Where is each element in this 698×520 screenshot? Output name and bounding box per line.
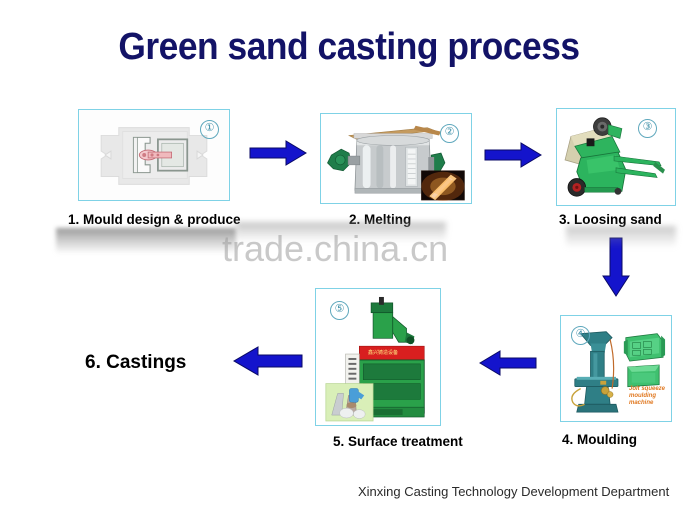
step-1-panel[interactable]: ① [78, 109, 230, 201]
watermark-smudge-left [56, 228, 236, 254]
footer-company-name: Xinxing Casting Technology Development D… [358, 484, 669, 499]
step-3-panel[interactable]: ③ [556, 108, 676, 206]
step-4-panel[interactable]: Jolt squeeze moulding machine ④ [560, 315, 672, 422]
step-4-number: ④ [571, 326, 590, 345]
arrow-step1-to-step2 [248, 138, 308, 168]
step-3-number: ③ [638, 119, 657, 138]
watermark-smudge-right [566, 226, 676, 248]
diagram-canvas: Green sand casting process ① 1. Mo [0, 0, 698, 520]
step-1-caption: 1. Mould design & produce [68, 212, 241, 227]
step-5-number: ⑤ [330, 301, 349, 320]
step-3-caption: 3. Loosing sand [559, 212, 662, 227]
page-title: Green sand casting process [24, 26, 673, 69]
step-5-banner-text: 鑫兴铸造设备 [368, 349, 398, 356]
step-2-number: ② [440, 124, 459, 143]
watermark-smudge-center [236, 222, 446, 242]
step-1-number: ① [200, 120, 219, 139]
step-2-panel[interactable]: ② [320, 113, 472, 204]
step-6-caption: 6. Castings [85, 352, 186, 374]
step-5-caption: 5. Surface treatment [333, 434, 463, 449]
step-4-inline-label: Jolt squeeze moulding machine [629, 386, 671, 407]
step-4-caption: 4. Moulding [562, 432, 637, 447]
arrow-step4-to-step5 [478, 348, 538, 378]
arrow-step2-to-step3 [483, 140, 543, 170]
step-5-panel[interactable]: 鑫兴铸造设备 ⑤ [315, 288, 441, 426]
arrow-step5-to-step6 [232, 345, 304, 377]
sand-loosing-machine-icon [557, 109, 675, 205]
